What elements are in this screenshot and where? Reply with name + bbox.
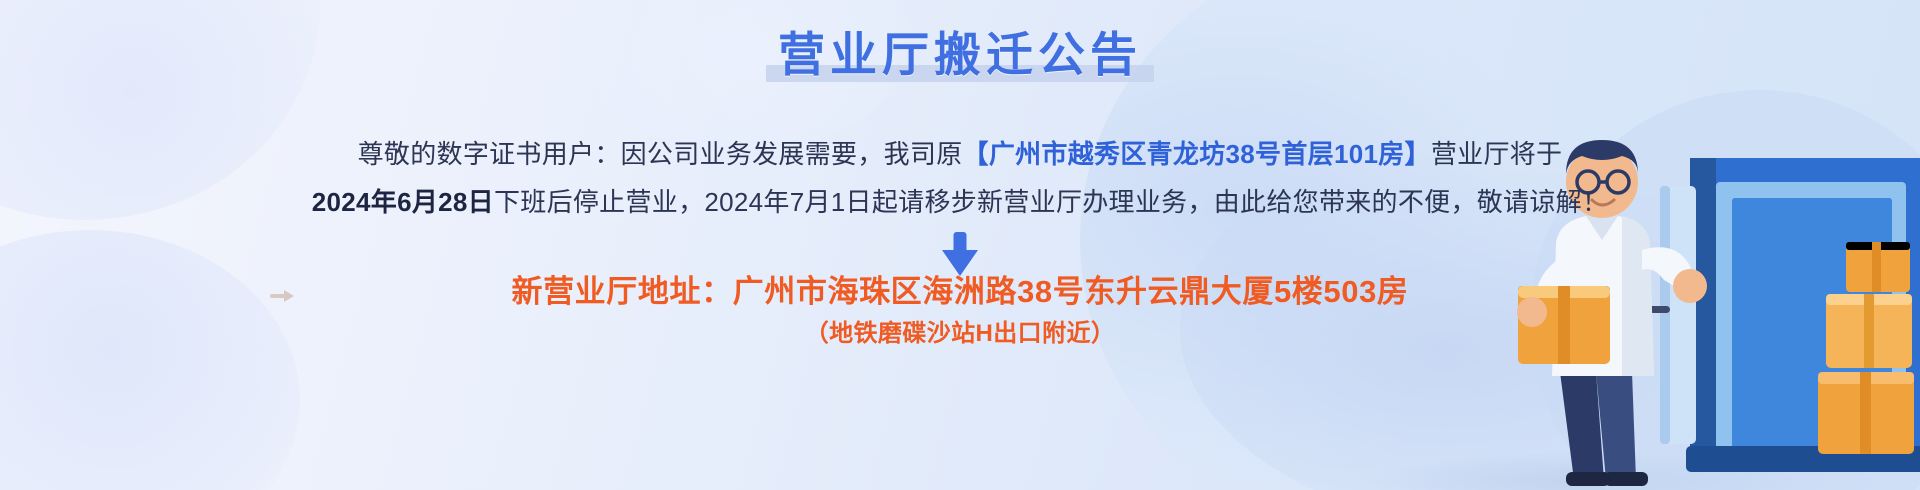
page-title: 营业厅搬迁公告 xyxy=(778,28,1142,81)
announcement-body: 尊敬的数字证书用户：因公司业务发展需要，我司原【广州市越秀区青龙坊38号首层10… xyxy=(0,130,1920,226)
relocation-announcement-banner: 营业厅搬迁公告 尊敬的数字证书用户：因公司业务发展需要，我司原【广州市越秀区青龙… xyxy=(0,0,1920,490)
announcement-line-2: 2024年6月28日下班后停止营业，2024年7月1日起请移步新营业厅办理业务，… xyxy=(0,178,1920,226)
closing-date-text: 2024年6月28日 xyxy=(312,187,494,217)
title-inner: 营业厅搬迁公告 xyxy=(778,26,1142,83)
new-address-sub: （地铁磨碟沙站H出口附近） xyxy=(0,314,1920,354)
banner-title-container: 营业厅搬迁公告 xyxy=(0,26,1920,83)
line1-before-text: 尊敬的数字证书用户：因公司业务发展需要，我司原 xyxy=(358,139,963,169)
line1-after-text: 营业厅将于 xyxy=(1431,139,1563,169)
illustration-ground-shadow xyxy=(1360,450,1880,490)
announcement-line-1: 尊敬的数字证书用户：因公司业务发展需要，我司原【广州市越秀区青龙坊38号首层10… xyxy=(0,130,1920,178)
new-address-container: 新营业厅地址：广州市海珠区海洲路38号东升云鼎大厦5楼503房 （地铁磨碟沙站H… xyxy=(0,270,1920,354)
line2-rest-text: 下班后停止营业，2024年7月1日起请移步新营业厅办理业务，由此给您带来的不便，… xyxy=(494,187,1608,217)
old-address-highlight: 【广州市越秀区青龙坊38号首层101房】 xyxy=(963,139,1431,169)
small-pointer-icon xyxy=(270,290,296,302)
small-pointer-head xyxy=(284,290,294,302)
